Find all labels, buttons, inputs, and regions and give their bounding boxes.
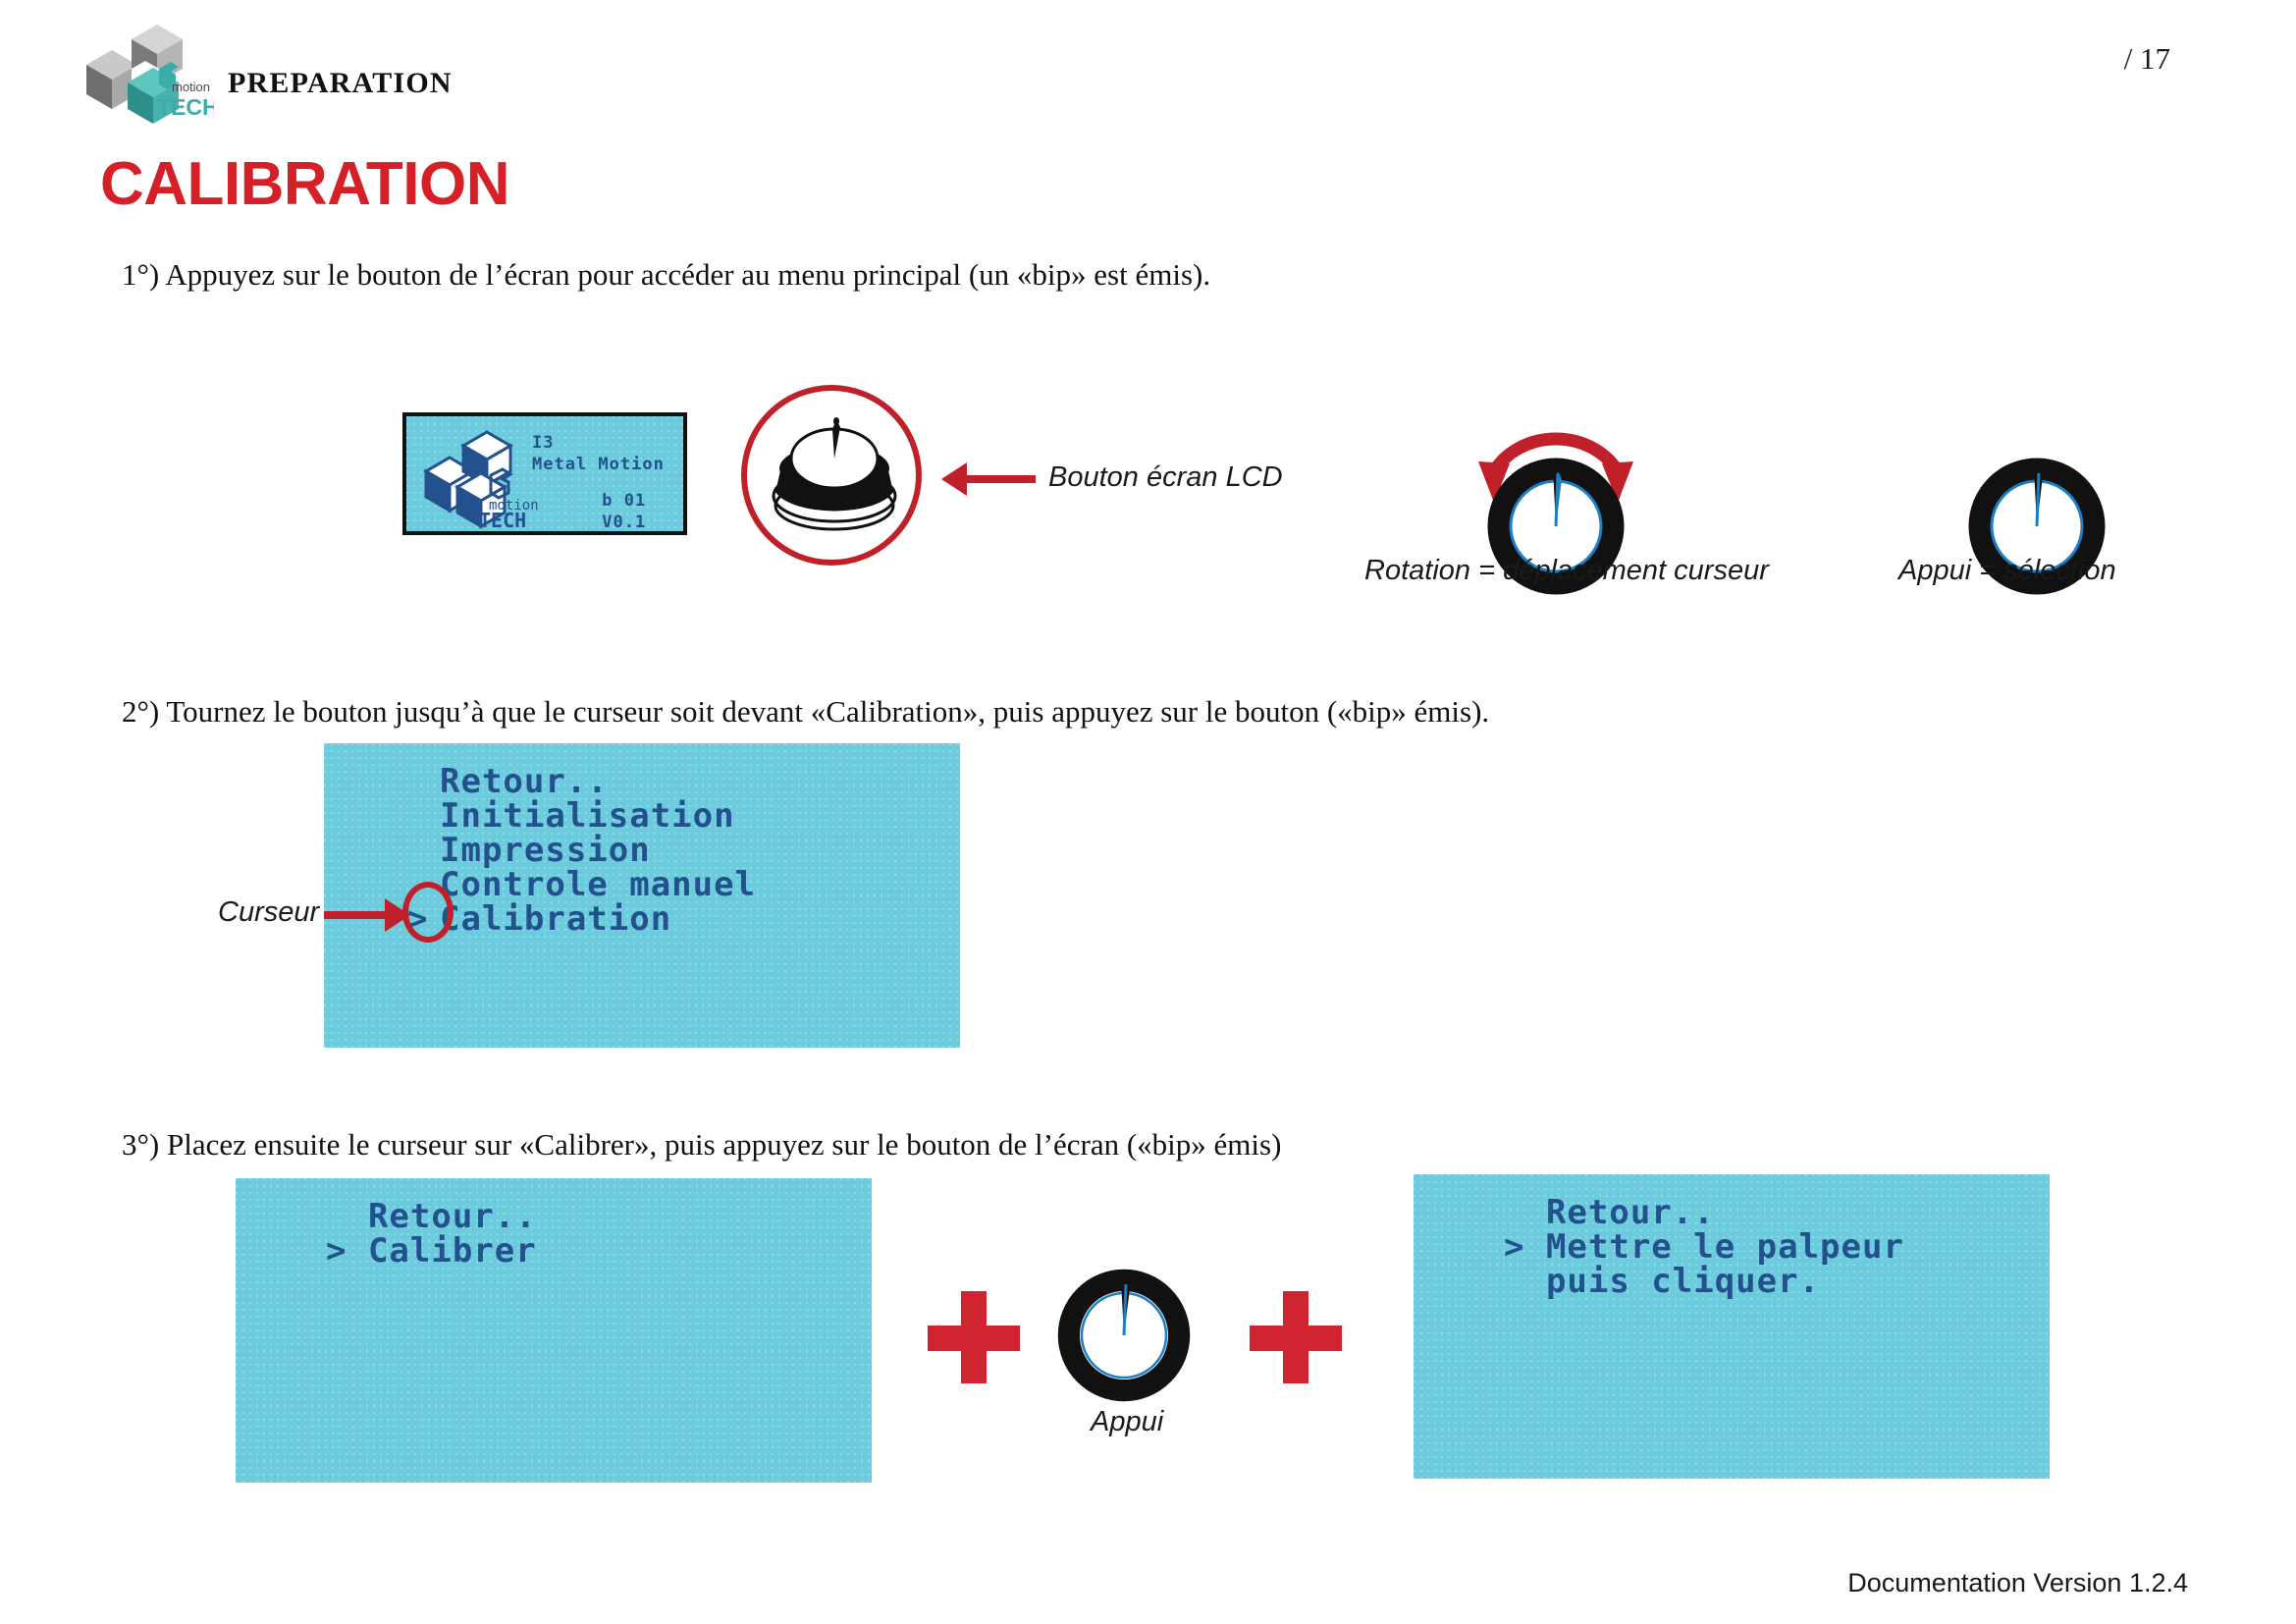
lcd-palpeur-lines: Retour.. > Mettre le palpeur puis clique…: [1504, 1196, 1904, 1299]
lcd-splash-model: I3 Metal Motion: [532, 432, 665, 475]
label-appui: Appui: [1091, 1406, 1163, 1438]
lcd-palpeur-screen: Retour.. > Mettre le palpeur puis clique…: [1414, 1174, 2050, 1479]
lcd-logo-graphic: motion TECH: [418, 426, 541, 532]
footer-version: Documentation Version 1.2.4: [1847, 1568, 2188, 1598]
plus-icon-left: [928, 1291, 1020, 1383]
cursor-highlight-circle: [402, 882, 454, 943]
lcd-screen-knob-perspective[interactable]: [756, 398, 913, 555]
section-title: PREPARATION: [228, 67, 453, 100]
label-bouton-ecran-lcd: Bouton écran LCD: [1048, 461, 1283, 494]
callout-arrow-line-lcd: [967, 475, 1036, 483]
page-number: / 17: [2124, 41, 2170, 77]
callout-arrow-line-curseur: [324, 911, 385, 919]
label-appui-selection: Appui = sélection: [1898, 555, 2116, 587]
label-curseur: Curseur: [218, 896, 319, 929]
callout-arrow-head-lcd: [941, 462, 967, 496]
logo-motion-text: motion: [172, 80, 210, 94]
plus-icon-right: [1250, 1291, 1342, 1383]
label-rotation-deplacement-curseur: Rotation = déplacement curseur: [1364, 555, 1769, 587]
page-title: CALIBRATION: [100, 149, 509, 219]
lcd-logo-tech-text: TECH: [479, 509, 526, 532]
step-1-text: 1°) Appuyez sur le bouton de l’écran pou…: [122, 257, 1210, 293]
knob-appui[interactable]: [1055, 1267, 1193, 1404]
logo-tech-text: TECH: [157, 94, 214, 120]
lcd-splash-screen: motion TECH I3 Metal Motion b 01 V0.1: [402, 412, 687, 535]
lcd-calibrer-lines: Retour.. > Calibrer: [326, 1200, 537, 1269]
motiontech-logo: motion TECH: [77, 18, 214, 126]
step-2-text: 2°) Tournez le bouton jusqu’à que le cur…: [122, 694, 1489, 730]
lcd-menu-items: Retour.. Initialisation Impression Contr…: [440, 765, 756, 937]
lcd-splash-build: b 01 V0.1: [591, 490, 646, 533]
lcd-calibration-menu-screen: Retour.. > Calibrer: [236, 1178, 872, 1483]
step-3-text: 3°) Placez ensuite le curseur sur «Calib…: [122, 1127, 1281, 1163]
